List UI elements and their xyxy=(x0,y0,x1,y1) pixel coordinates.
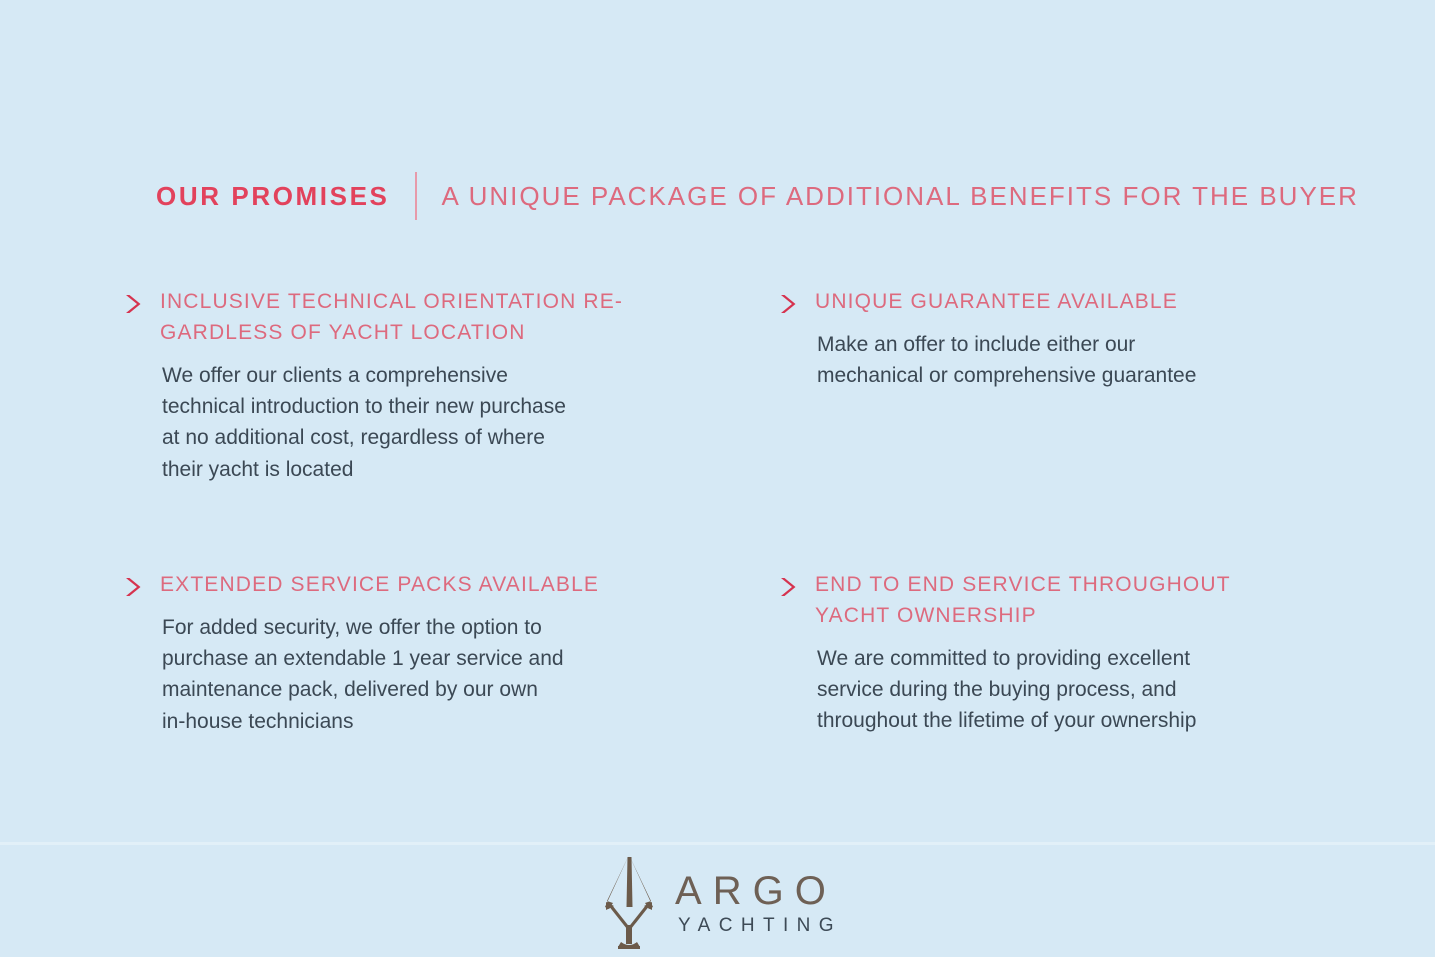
logo-wordmark: ARGO YACHTING xyxy=(675,864,842,938)
footer: ARGO YACHTING xyxy=(0,845,1435,957)
promise-title: EXTENDED SERVICE PACKS AVAILABLE xyxy=(160,569,660,600)
promise-title: INCLUSIVE TECHNICAL ORIENTATION RE- GARD… xyxy=(160,286,660,348)
promise-title-line: EXTENDED SERVICE PACKS AVAILABLE xyxy=(160,569,660,600)
promises-grid: INCLUSIVE TECHNICAL ORIENTATION RE- GARD… xyxy=(120,286,1320,737)
promise-title-line: END TO END SERVICE THROUGHOUT xyxy=(815,569,1315,600)
promise-title-line: YACHT OWNERSHIP xyxy=(815,600,1315,631)
argo-yachting-logo: ARGO YACHTING xyxy=(593,851,842,951)
header-divider xyxy=(415,172,417,220)
promise-body: For added security, we offer the option … xyxy=(162,612,662,737)
header-eyebrow: OUR PROMISES xyxy=(156,172,389,220)
promise-item-extended-service-packs: EXTENDED SERVICE PACKS AVAILABLE For add… xyxy=(120,569,775,737)
promise-body-line: technical introduction to their new purc… xyxy=(162,391,662,422)
chevron-right-icon xyxy=(120,575,144,599)
chevron-right-icon xyxy=(775,292,799,316)
promise-body-line: at no additional cost, regardless of whe… xyxy=(162,422,662,453)
brand-tagline: YACHTING xyxy=(678,914,842,938)
promise-title: UNIQUE GUARANTEE AVAILABLE xyxy=(815,286,1315,317)
promise-body-line: throughout the lifetime of your ownershi… xyxy=(817,705,1317,736)
brand-name: ARGO xyxy=(675,868,842,914)
chevron-right-icon xyxy=(120,292,144,316)
promise-title: END TO END SERVICE THROUGHOUT YACHT OWNE… xyxy=(815,569,1315,631)
promise-body-line: maintenance pack, delivered by our own xyxy=(162,674,662,705)
promise-body: We offer our clients a comprehensive tec… xyxy=(162,360,662,485)
promise-body-line: We offer our clients a comprehensive xyxy=(162,360,662,391)
promise-body-line: Make an offer to include either our xyxy=(817,329,1317,360)
promise-body-line: purchase an extendable 1 year service an… xyxy=(162,643,662,674)
promise-title-line: INCLUSIVE TECHNICAL ORIENTATION RE- xyxy=(160,286,660,317)
chevron-right-icon xyxy=(775,575,799,599)
promise-item-inclusive-technical-orientation: INCLUSIVE TECHNICAL ORIENTATION RE- GARD… xyxy=(120,286,775,569)
promise-body-line: mechanical or comprehensive guarantee xyxy=(817,360,1317,391)
promise-title-line: GARDLESS OF YACHT LOCATION xyxy=(160,317,660,348)
argo-anchor-a-icon xyxy=(593,851,663,951)
promise-body: We are committed to providing excellent … xyxy=(817,643,1317,737)
promises-page: OUR PROMISES A UNIQUE PACKAGE OF ADDITIO… xyxy=(0,0,1435,957)
promise-title-line: UNIQUE GUARANTEE AVAILABLE xyxy=(815,286,1315,317)
promise-body: Make an offer to include either our mech… xyxy=(817,329,1317,391)
promise-body-line: in-house technicians xyxy=(162,706,662,737)
section-header: OUR PROMISES A UNIQUE PACKAGE OF ADDITIO… xyxy=(156,172,1359,220)
page-title: A UNIQUE PACKAGE OF ADDITIONAL BENEFITS … xyxy=(441,172,1358,220)
promise-body-line: We are committed to providing excellent xyxy=(817,643,1317,674)
promise-body-line: service during the buying process, and xyxy=(817,674,1317,705)
promise-item-end-to-end-service: END TO END SERVICE THROUGHOUT YACHT OWNE… xyxy=(775,569,1320,737)
promise-item-unique-guarantee: UNIQUE GUARANTEE AVAILABLE Make an offer… xyxy=(775,286,1320,569)
promise-body-line: For added security, we offer the option … xyxy=(162,612,662,643)
promise-body-line: their yacht is located xyxy=(162,454,662,485)
